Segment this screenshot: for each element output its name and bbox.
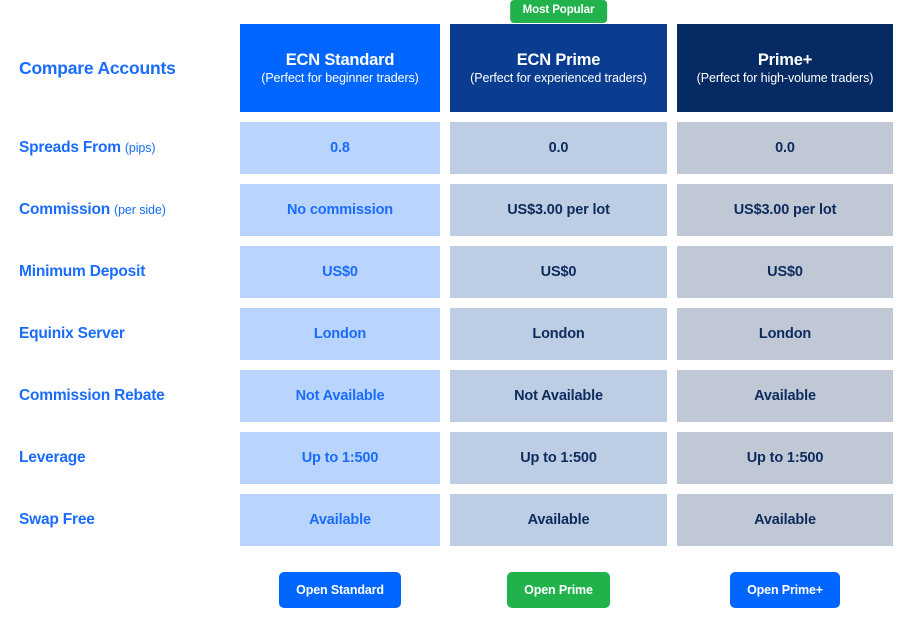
table-cell: Up to 1:500 bbox=[240, 432, 440, 484]
row-label-swap-free: Swap Free bbox=[0, 494, 240, 546]
table-cell: Not Available bbox=[240, 370, 440, 422]
table-cell: Available bbox=[240, 494, 440, 546]
row-label-note: (per side) bbox=[114, 203, 166, 217]
plan-name-2: ECN Prime bbox=[517, 50, 600, 71]
table-cell: Available bbox=[450, 494, 667, 546]
row-label-minimum-deposit: Minimum Deposit bbox=[0, 246, 240, 298]
row-label-text: Spreads From bbox=[19, 139, 121, 157]
page-title: Compare Accounts bbox=[0, 24, 240, 112]
table-cell: Available bbox=[677, 370, 893, 422]
row-label-leverage: Leverage bbox=[0, 432, 240, 484]
table-cell: Up to 1:500 bbox=[677, 432, 893, 484]
table-cell: US$3.00 per lot bbox=[450, 184, 667, 236]
table-cell: 0.8 bbox=[240, 122, 440, 174]
table-cell: US$3.00 per lot bbox=[677, 184, 893, 236]
row-label-spreads-from: Spreads From (pips) bbox=[0, 122, 240, 174]
plan-subtitle-3: (Perfect for high-volume traders) bbox=[697, 71, 874, 86]
plan-subtitle-2: (Perfect for experienced traders) bbox=[470, 71, 647, 86]
account-comparison-table: Compare Accounts ECN Standard (Perfect f… bbox=[0, 0, 915, 636]
plan-header-ecn-standard: ECN Standard (Perfect for beginner trade… bbox=[240, 24, 440, 112]
table-cell: Up to 1:500 bbox=[450, 432, 667, 484]
open-prime-plus-button[interactable]: Open Prime+ bbox=[730, 572, 840, 609]
table-cell: 0.0 bbox=[677, 122, 893, 174]
row-label-commission: Commission (per side) bbox=[0, 184, 240, 236]
row-label-note: (pips) bbox=[125, 141, 156, 155]
row-label-text: Equinix Server bbox=[19, 325, 125, 343]
row-label-text: Commission bbox=[19, 201, 110, 219]
cta-cell-prime: Open Prime bbox=[450, 560, 667, 620]
row-label-text: Swap Free bbox=[19, 511, 95, 529]
plan-header-prime-plus: Prime+ (Perfect for high-volume traders) bbox=[677, 24, 893, 112]
table-cell: Available bbox=[677, 494, 893, 546]
comparison-grid: Compare Accounts ECN Standard (Perfect f… bbox=[0, 0, 915, 620]
row-label-text: Commission Rebate bbox=[19, 387, 165, 405]
row-label-text: Minimum Deposit bbox=[19, 263, 145, 281]
table-cell: 0.0 bbox=[450, 122, 667, 174]
table-cell: US$0 bbox=[677, 246, 893, 298]
cta-cell-standard: Open Standard bbox=[240, 560, 440, 620]
plan-subtitle-1: (Perfect for beginner traders) bbox=[261, 71, 419, 86]
table-cell: London bbox=[450, 308, 667, 360]
cta-cell-prime-plus: Open Prime+ bbox=[677, 560, 893, 620]
cta-row-spacer bbox=[0, 546, 240, 606]
open-prime-button[interactable]: Open Prime bbox=[507, 572, 610, 609]
plan-header-ecn-prime: Most Popular ECN Prime (Perfect for expe… bbox=[450, 24, 667, 112]
table-cell: London bbox=[677, 308, 893, 360]
table-cell: London bbox=[240, 308, 440, 360]
most-popular-badge: Most Popular bbox=[510, 0, 608, 23]
page-title-text: Compare Accounts bbox=[19, 58, 176, 79]
row-label-text: Leverage bbox=[19, 449, 85, 467]
plan-name-1: ECN Standard bbox=[286, 50, 395, 71]
row-label-commission-rebate: Commission Rebate bbox=[0, 370, 240, 422]
plan-name-3: Prime+ bbox=[758, 50, 812, 71]
table-cell: No commission bbox=[240, 184, 440, 236]
table-cell: US$0 bbox=[450, 246, 667, 298]
row-label-equinix-server: Equinix Server bbox=[0, 308, 240, 360]
open-standard-button[interactable]: Open Standard bbox=[279, 572, 401, 609]
table-cell: US$0 bbox=[240, 246, 440, 298]
table-cell: Not Available bbox=[450, 370, 667, 422]
